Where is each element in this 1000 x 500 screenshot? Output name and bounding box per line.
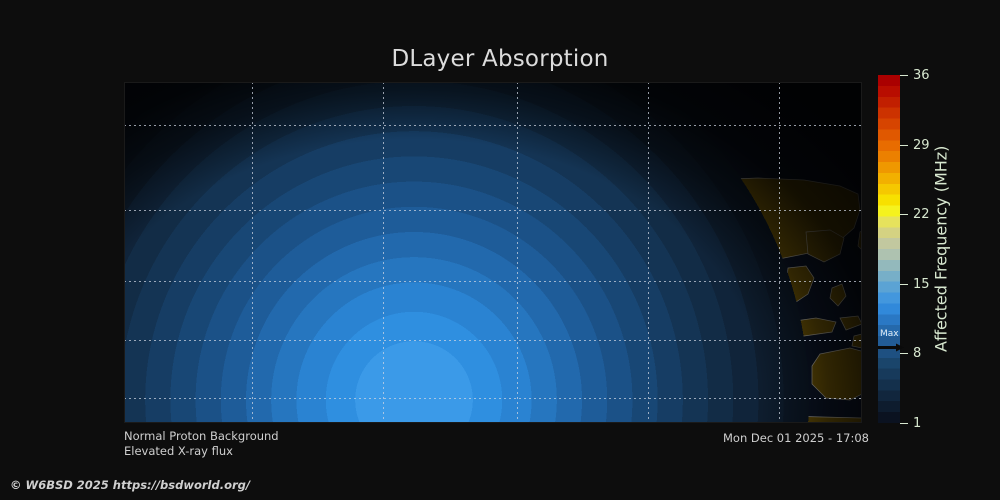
landmass-layer [124, 82, 862, 423]
colorbar-tick-mark [900, 284, 908, 285]
colorbar-tick-mark [900, 75, 908, 76]
colorbar-axis-label: Affected Frequency (MHz) [930, 75, 952, 423]
page-title: DLayer Absorption [0, 46, 1000, 72]
max-marker-label: Max [880, 330, 899, 339]
colorbar-tick-mark [900, 423, 908, 424]
colorbar-gradient [878, 75, 900, 423]
max-marker: Max [878, 330, 908, 356]
copyright-notice: © W6BSD 2025 https://bsdworld.org/ [10, 478, 250, 492]
colorbar-tick-label: 15 [913, 278, 930, 291]
colorbar-tick-mark [900, 145, 908, 146]
colorbar-tick-label: 1 [913, 417, 921, 430]
colorbar-tick-label: 36 [913, 69, 930, 82]
max-arrow-icon [878, 343, 904, 352]
colorbar-tick-mark [900, 214, 908, 215]
status-block: Normal Proton Background Elevated X-ray … [124, 429, 279, 459]
world-map[interactable] [124, 82, 862, 423]
colorbar-tick-label: 29 [913, 139, 930, 152]
colorbar[interactable] [878, 75, 900, 423]
status-xray-flux: Elevated X-ray flux [124, 444, 279, 459]
colorbar-tick-label: 22 [913, 208, 930, 221]
colorbar-tick-label: 8 [913, 347, 921, 360]
status-proton-background: Normal Proton Background [124, 429, 279, 444]
dlayer-absorption-app: DLayer Absorption [0, 0, 1000, 500]
timestamp: Mon Dec 01 2025 - 17:08 [723, 431, 869, 445]
